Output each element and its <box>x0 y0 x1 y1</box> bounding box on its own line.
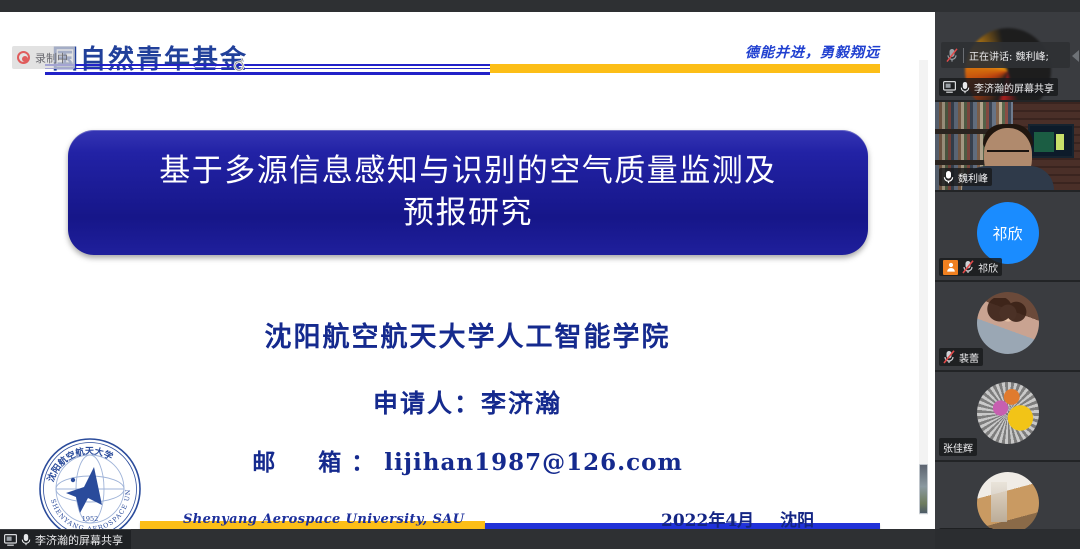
microphone-icon <box>943 170 954 184</box>
participant-tile-weilifeng[interactable]: 魏利峰 <box>935 102 1080 192</box>
slide-header-motto: 德能并进，勇毅翔远 <box>745 42 880 62</box>
taskbar-share-label: 李济瀚的屏幕共享 <box>35 532 123 548</box>
participant-name: 张佳辉 <box>943 440 973 455</box>
participant-name-strip: 张佳辉 <box>939 438 977 456</box>
microphone-muted-icon <box>943 350 955 364</box>
taskbar-share-chip[interactable]: 李济瀚的屏幕共享 <box>0 529 131 549</box>
microphone-muted-icon <box>946 48 958 63</box>
slide-title-box: 基于多源信息感知与识别的空气质量监测及 预报研究 <box>68 130 868 255</box>
slide-scrollbar-track[interactable] <box>919 60 928 515</box>
host-badge-icon <box>943 260 958 275</box>
avatar: 祁欣 <box>977 202 1039 264</box>
screen-share-icon <box>943 81 956 93</box>
participant-name: 裴蕾 <box>959 350 979 365</box>
slide-title-text: 基于多源信息感知与识别的空气质量监测及 预报研究 <box>159 151 777 234</box>
footer-date-location: 2022年4月沈阳 <box>661 506 814 529</box>
participant-name-strip: 李济瀚的屏幕共享 <box>939 78 1058 96</box>
meeting-screen-share-window: 国自然青年基金 德能并进，勇毅翔远 基于多源信息感知与识别的空气质量监测及 预报… <box>0 0 1080 549</box>
avatar <box>977 292 1039 354</box>
record-dot-icon <box>17 51 30 64</box>
slide-applicant: 申请人：李济瀚 <box>0 384 935 420</box>
screen-share-icon <box>4 534 17 546</box>
slide-title-line-1: 基于多源信息感知与识别的空气质量监测及 <box>159 151 777 193</box>
participant-tile-screen-share[interactable]: 正在讲话: 魏利峰; 李济瀚的屏幕共享 <box>935 12 1080 102</box>
microphone-icon <box>960 81 970 94</box>
email-value: lijihan1987@126.com <box>384 449 683 476</box>
microphone-muted-icon <box>962 260 974 274</box>
recording-indicator[interactable]: 录制中 <box>12 46 75 69</box>
avatar <box>977 382 1039 444</box>
participant-tile-peilei[interactable]: 裴蕾 <box>935 282 1080 372</box>
mouse-cursor-busy-icon <box>231 57 247 73</box>
email-label: 邮 箱： <box>252 449 384 476</box>
shared-slide-area[interactable]: 国自然青年基金 德能并进，勇毅翔远 基于多源信息感知与识别的空气质量监测及 预报… <box>0 12 935 529</box>
participant-tile-zhangjiahui[interactable]: 张佳辉 <box>935 372 1080 462</box>
university-seal-logo: 沈阳航空航天大学 SHENYANG AEROSPACE UNIVERSITY 1… <box>36 435 144 529</box>
footer-city: 沈阳 <box>780 511 814 529</box>
recording-label: 录制中 <box>35 50 68 66</box>
slide-scrollbar-thumb[interactable] <box>919 464 928 514</box>
participant-name: 魏利峰 <box>958 170 988 185</box>
participant-name: 祁欣 <box>978 260 998 275</box>
participant-rail[interactable]: 正在讲话: 魏利峰; 李济瀚的屏幕共享 <box>935 0 1080 549</box>
participant-name-strip: 祁欣 <box>939 258 1002 276</box>
active-speaker-banner: 正在讲话: 魏利峰; <box>941 42 1070 68</box>
participant-tile-qixin[interactable]: 祁欣 祁欣 <box>935 192 1080 282</box>
participant-name-strip: 魏利峰 <box>939 168 992 186</box>
microphone-icon <box>21 533 31 546</box>
header-rule-yellow <box>490 64 880 73</box>
rail-top-gap <box>935 0 1080 12</box>
participant-name: 李济瀚的屏幕共享 <box>974 80 1054 95</box>
footer-english-name: Shenyang Aerospace University, SAU <box>183 512 464 527</box>
footer-date: 2022年4月 <box>661 511 754 529</box>
speaking-label: 正在讲话: 魏利峰; <box>969 48 1049 63</box>
slide-organization: 沈阳航空航天大学人工智能学院 <box>0 315 935 354</box>
rail-collapse-arrow-icon[interactable] <box>1072 50 1079 62</box>
rail-bottom-filler <box>935 529 1080 549</box>
svg-text:沈阳航空航天大学: 沈阳航空航天大学 <box>45 445 115 483</box>
participant-name-strip: 裴蕾 <box>939 348 983 366</box>
window-top-strip <box>0 0 935 12</box>
taskbar: 李济瀚的屏幕共享 <box>0 529 935 549</box>
header-rule <box>45 62 880 76</box>
svg-text:1952: 1952 <box>82 515 99 523</box>
avatar <box>977 472 1039 534</box>
slide-title-line-2: 预报研究 <box>159 193 777 235</box>
header-rule-blue <box>45 64 490 75</box>
